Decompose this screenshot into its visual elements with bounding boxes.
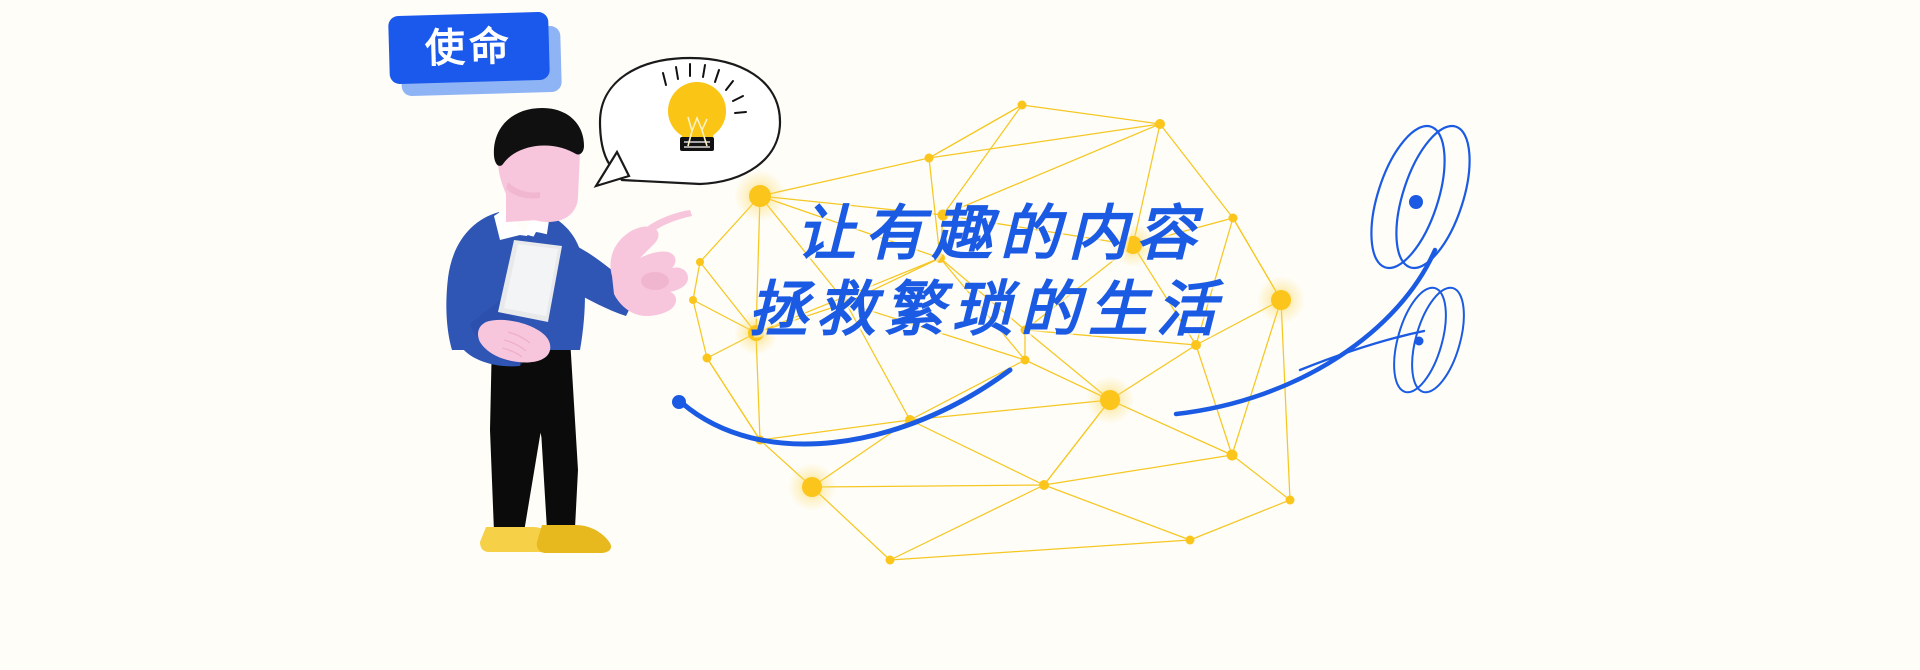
mission-badge-card: 使命 [388,12,550,84]
headline-line-1: 让有趣的内容 [640,196,1360,272]
mission-badge-label: 使命 [424,27,513,69]
headline-block: 让有趣的内容 拯救繁琐的生活 [640,196,1360,348]
headline-line-2: 拯救繁琐的生活 [612,272,1360,348]
banner-canvas: 让有趣的内容 拯救繁琐的生活 使命 [0,0,1920,670]
shoes [480,525,611,553]
idea-speech-bubble [596,58,780,186]
trousers [490,338,578,532]
mission-badge: 使命 [389,14,569,98]
